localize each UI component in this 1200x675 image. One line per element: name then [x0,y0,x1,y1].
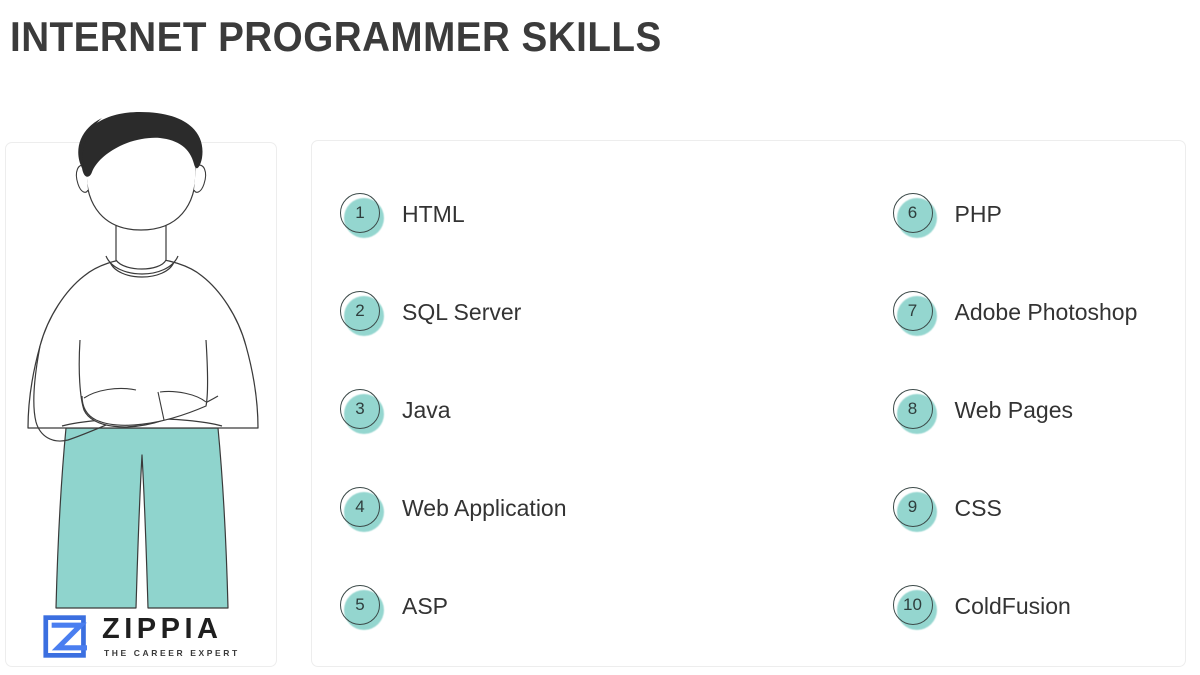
skill-item-3: 3 Java [312,362,749,460]
illustration-card [5,142,277,667]
skills-card: 1 HTML 6 PHP 2 SQL Server [311,140,1186,667]
skill-item-10: 10 ColdFusion [749,558,1186,656]
rank-badge: 9 [893,487,937,531]
badge-number: 1 [340,193,380,233]
badge-number: 6 [893,193,933,233]
badge-number: 2 [340,291,380,331]
skill-label: CSS [955,496,1002,521]
skill-label: PHP [955,202,1002,227]
skill-label: Web Application [402,496,567,521]
skill-item-6: 6 PHP [749,166,1186,264]
skill-item-4: 4 Web Application [312,460,749,558]
rank-badge: 5 [340,585,384,629]
skill-item-8: 8 Web Pages [749,362,1186,460]
badge-number: 9 [893,487,933,527]
rank-badge: 1 [340,193,384,237]
skill-item-1: 1 HTML [312,166,749,264]
skill-label: Adobe Photoshop [955,300,1138,325]
skill-item-2: 2 SQL Server [312,264,749,362]
badge-number: 8 [893,389,933,429]
zippia-wordmark: ZIPPIA [102,615,222,644]
rank-badge: 7 [893,291,937,335]
badge-number: 3 [340,389,380,429]
skill-label: ColdFusion [955,594,1071,619]
badge-number: 7 [893,291,933,331]
page-title: INTERNET PROGRAMMER SKILLS [10,14,662,60]
rank-badge: 10 [893,585,937,629]
zippia-tagline: THE CAREER EXPERT [104,649,240,658]
skill-label: SQL Server [402,300,521,325]
skill-label: HTML [402,202,465,227]
rank-badge: 3 [340,389,384,433]
skills-grid: 1 HTML 6 PHP 2 SQL Server [312,141,1185,666]
skill-label: ASP [402,594,448,619]
skill-label: Web Pages [955,398,1073,423]
rank-badge: 4 [340,487,384,531]
zippia-z-mark-icon [42,612,91,661]
rank-badge: 6 [893,193,937,237]
badge-number: 4 [340,487,380,527]
skill-label: Java [402,398,451,423]
rank-badge: 2 [340,291,384,335]
badge-number: 5 [340,585,380,625]
zippia-logo: ZIPPIA THE CAREER EXPERT [42,612,240,661]
skill-item-5: 5 ASP [312,558,749,656]
skill-item-9: 9 CSS [749,460,1186,558]
skill-item-7: 7 Adobe Photoshop [749,264,1186,362]
badge-number: 10 [893,585,933,625]
rank-badge: 8 [893,389,937,433]
